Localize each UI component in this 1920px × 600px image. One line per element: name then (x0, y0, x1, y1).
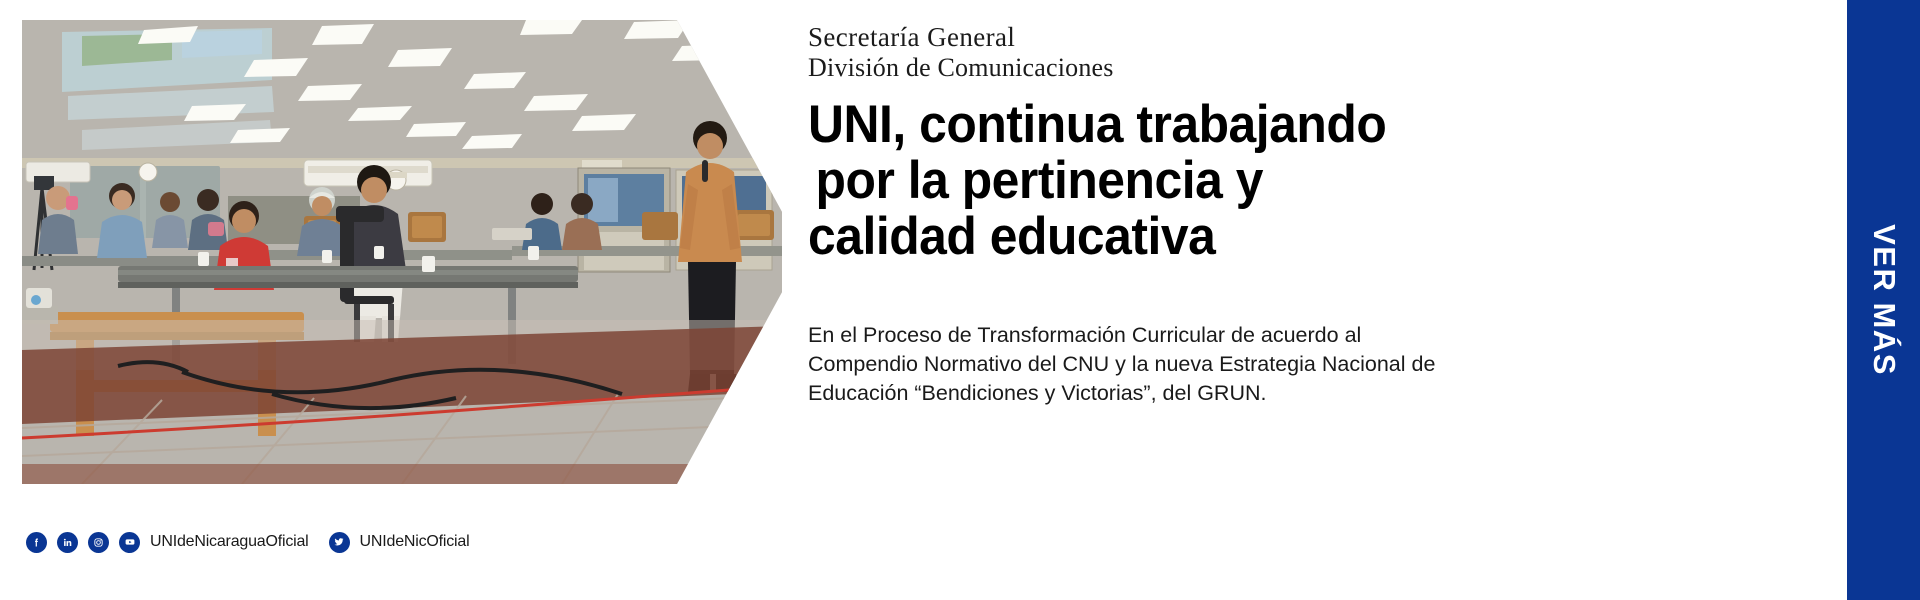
youtube-icon[interactable] (119, 532, 140, 553)
page-title: UNI, continua trabajando por la pertinen… (808, 97, 1457, 265)
ver-mas-label: VER MÁS (1866, 224, 1902, 376)
social-group-primary: UNIdeNicaraguaOficial (26, 532, 329, 553)
ver-mas-button[interactable]: VER MÁS (1847, 0, 1920, 600)
kicker-line-secretaria: Secretaría General (808, 22, 1498, 53)
headline-line-3: calidad educativa (808, 209, 1457, 265)
facebook-icon[interactable] (26, 532, 47, 553)
summary-line-3: Educación “Bendiciones y Victorias”, del… (808, 379, 1498, 408)
summary-line-1: En el Proceso de Transformación Curricul… (808, 321, 1498, 350)
social-media-bar: UNIdeNicaraguaOficial UNIdeNicOficial (26, 527, 489, 557)
kicker-line-division: División de Comunicaciones (808, 53, 1498, 83)
article-photo (22, 20, 782, 484)
twitter-icon[interactable] (329, 532, 350, 553)
social-handle-twitter[interactable]: UNIdeNicOficial (360, 533, 470, 551)
article-text-column: Secretaría General División de Comunicac… (808, 22, 1498, 408)
social-handle-primary[interactable]: UNIdeNicaraguaOficial (150, 533, 309, 551)
social-group-twitter: UNIdeNicOficial (329, 532, 490, 553)
publisher-kicker: Secretaría General División de Comunicac… (808, 22, 1498, 83)
summary-line-2: Compendio Normativo del CNU y la nueva E… (808, 350, 1498, 379)
instagram-icon[interactable] (88, 532, 109, 553)
article-summary: En el Proceso de Transformación Curricul… (808, 321, 1498, 408)
linkedin-icon[interactable] (57, 532, 78, 553)
headline-line-1: UNI, continua trabajando (808, 97, 1457, 153)
classroom-meeting-photo (22, 20, 782, 484)
headline-line-2: por la pertinencia y (808, 153, 1457, 209)
